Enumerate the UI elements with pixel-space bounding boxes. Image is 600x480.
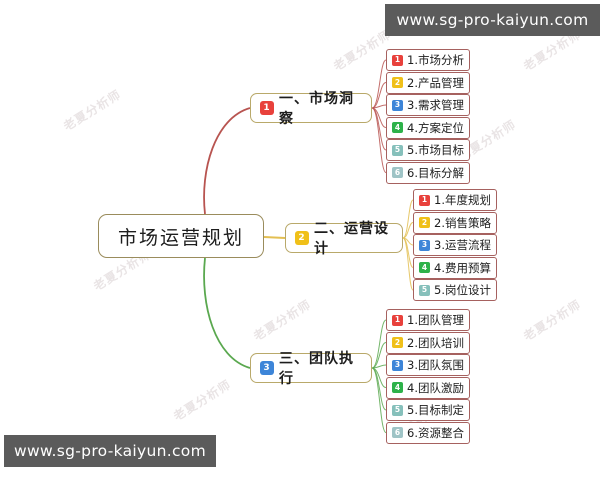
connector-branch-2-leaf-4 xyxy=(403,238,413,268)
leaf-label-2-5: 5.岗位设计 xyxy=(434,282,491,298)
connector-branch-1-leaf-6 xyxy=(372,108,386,173)
leaf-label-2-4: 4.费用预算 xyxy=(434,260,491,276)
leaf-node-2-1[interactable]: 11.年度规划 xyxy=(413,189,497,211)
leaf-label-1-3: 3.需求管理 xyxy=(407,97,464,113)
leaf-label-3-6: 6.资源整合 xyxy=(407,425,464,441)
leaf-label-1-4: 4.方案定位 xyxy=(407,120,464,136)
connector-branch-2-leaf-3 xyxy=(403,238,413,245)
leaf-node-2-3[interactable]: 33.运营流程 xyxy=(413,234,497,256)
leaf-badge-3-6: 6 xyxy=(392,427,403,438)
leaf-label-1-5: 5.市场目标 xyxy=(407,142,464,158)
leaf-node-1-3[interactable]: 33.需求管理 xyxy=(386,94,470,116)
connector-root-branch-2 xyxy=(264,237,285,238)
watermark-bar-bottom: www.sg-pro-kaiyun.com xyxy=(4,435,216,467)
mindmap-canvas: 老夏分析师老夏分析师老夏分析师老夏分析师老夏分析师老夏分析师老夏分析师老夏分析师… xyxy=(0,0,600,480)
background-watermark-text: 老夏分析师 xyxy=(250,296,314,345)
leaf-node-3-3[interactable]: 33.团队氛围 xyxy=(386,354,470,376)
leaf-label-1-2: 2.产品管理 xyxy=(407,75,464,91)
branch-1-label: 一、市场洞察 xyxy=(279,88,362,128)
leaf-node-1-5[interactable]: 55.市场目标 xyxy=(386,139,470,161)
leaf-badge-3-3: 3 xyxy=(392,360,403,371)
leaf-label-3-4: 4.团队激励 xyxy=(407,380,464,396)
leaf-node-3-5[interactable]: 55.目标制定 xyxy=(386,399,470,421)
leaf-node-3-2[interactable]: 22.团队培训 xyxy=(386,332,470,354)
connector-branch-2-leaf-5 xyxy=(403,238,413,290)
branch-node-2[interactable]: 2 二、运营设计 xyxy=(285,223,403,253)
connector-branch-3-leaf-3 xyxy=(372,365,386,368)
leaf-badge-1-6: 6 xyxy=(392,167,403,178)
leaf-badge-1-1: 1 xyxy=(392,55,403,66)
background-watermark-text: 老夏分析师 xyxy=(60,86,124,135)
connector-branch-1-leaf-2 xyxy=(372,83,386,109)
leaf-node-3-4[interactable]: 44.团队激励 xyxy=(386,377,470,399)
leaf-node-1-6[interactable]: 66.目标分解 xyxy=(386,162,470,184)
leaf-badge-2-4: 4 xyxy=(419,262,430,273)
branch-3-label: 三、团队执行 xyxy=(279,348,362,388)
connector-branch-3-leaf-1 xyxy=(372,320,386,368)
leaf-node-2-4[interactable]: 44.费用预算 xyxy=(413,257,497,279)
connector-branch-1-leaf-3 xyxy=(372,105,386,108)
connector-root-branch-1 xyxy=(204,108,250,214)
connector-branch-1-leaf-1 xyxy=(372,60,386,108)
branch-2-badge: 2 xyxy=(295,231,309,245)
leaf-badge-1-4: 4 xyxy=(392,122,403,133)
background-watermark-text: 老夏分析师 xyxy=(170,376,234,425)
leaf-badge-1-5: 5 xyxy=(392,145,403,156)
leaf-label-3-2: 2.团队培训 xyxy=(407,335,464,351)
background-watermark-text: 老夏分析师 xyxy=(520,296,584,345)
leaf-node-2-2[interactable]: 22.销售策略 xyxy=(413,212,497,234)
leaf-node-1-2[interactable]: 22.产品管理 xyxy=(386,72,470,94)
root-node[interactable]: 市场运营规划 xyxy=(98,214,264,258)
leaf-badge-2-5: 5 xyxy=(419,285,430,296)
watermark-bar-top: www.sg-pro-kaiyun.com xyxy=(385,4,600,36)
branch-node-3[interactable]: 3 三、团队执行 xyxy=(250,353,372,383)
connector-root-branch-3 xyxy=(204,258,250,368)
leaf-badge-3-5: 5 xyxy=(392,405,403,416)
branch-node-1[interactable]: 1 一、市场洞察 xyxy=(250,93,372,123)
connector-branch-1-leaf-5 xyxy=(372,108,386,150)
root-node-label: 市场运营规划 xyxy=(118,223,244,250)
connector-branch-3-leaf-5 xyxy=(372,368,386,410)
leaf-badge-1-3: 3 xyxy=(392,100,403,111)
leaf-badge-1-2: 2 xyxy=(392,77,403,88)
leaf-badge-2-2: 2 xyxy=(419,217,430,228)
leaf-badge-3-1: 1 xyxy=(392,315,403,326)
branch-2-label: 二、运营设计 xyxy=(314,218,393,258)
connector-branch-3-leaf-2 xyxy=(372,343,386,369)
leaf-badge-3-2: 2 xyxy=(392,337,403,348)
connector-branch-2-leaf-1 xyxy=(403,200,413,238)
leaf-badge-3-4: 4 xyxy=(392,382,403,393)
leaf-node-1-4[interactable]: 44.方案定位 xyxy=(386,117,470,139)
branch-1-badge: 1 xyxy=(260,101,274,115)
leaf-label-2-3: 3.运营流程 xyxy=(434,237,491,253)
leaf-node-3-1[interactable]: 11.团队管理 xyxy=(386,309,470,331)
leaf-node-1-1[interactable]: 11.市场分析 xyxy=(386,49,470,71)
leaf-label-2-2: 2.销售策略 xyxy=(434,215,491,231)
connector-branch-1-leaf-4 xyxy=(372,108,386,128)
leaf-badge-2-3: 3 xyxy=(419,240,430,251)
watermark-bottom-text: www.sg-pro-kaiyun.com xyxy=(14,442,206,460)
leaf-node-2-5[interactable]: 55.岗位设计 xyxy=(413,279,497,301)
leaf-label-1-6: 6.目标分解 xyxy=(407,165,464,181)
connector-branch-3-leaf-6 xyxy=(372,368,386,433)
leaf-label-3-1: 1.团队管理 xyxy=(407,312,464,328)
watermark-top-text: www.sg-pro-kaiyun.com xyxy=(397,11,589,29)
leaf-label-2-1: 1.年度规划 xyxy=(434,192,491,208)
leaf-badge-2-1: 1 xyxy=(419,195,430,206)
leaf-node-3-6[interactable]: 66.资源整合 xyxy=(386,422,470,444)
connector-branch-3-leaf-4 xyxy=(372,368,386,388)
connector-branch-2-leaf-2 xyxy=(403,223,413,239)
leaf-label-1-1: 1.市场分析 xyxy=(407,52,464,68)
leaf-label-3-5: 5.目标制定 xyxy=(407,402,464,418)
branch-3-badge: 3 xyxy=(260,361,274,375)
leaf-label-3-3: 3.团队氛围 xyxy=(407,357,464,373)
